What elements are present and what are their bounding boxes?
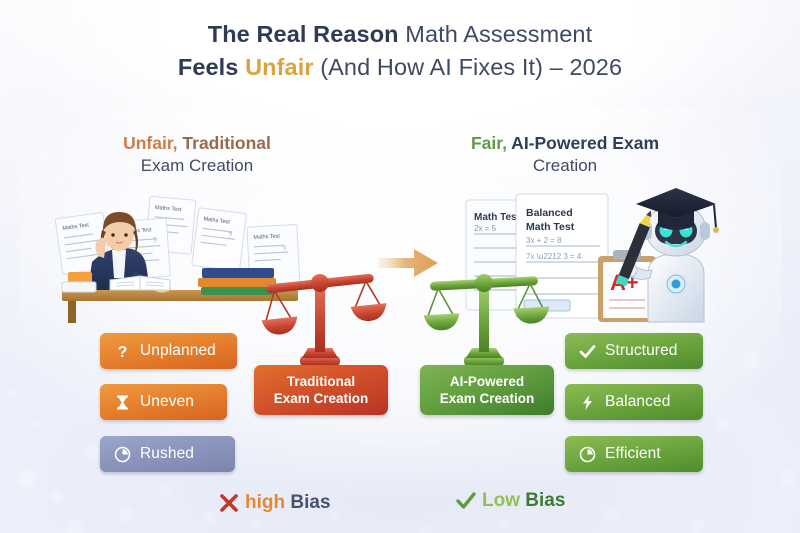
checkmark-icon [579,343,596,360]
left-heading-sub: Exam Creation [42,155,352,178]
lightning-bolt-icon [579,394,596,411]
svg-text:2x = 5: 2x = 5 [474,224,497,233]
pill-balanced[interactable]: Balanced [565,384,703,420]
balanced-scale-green-icon [416,252,552,374]
right-column-heading: Fair, AI-Powered Exam Creation [400,132,730,178]
traditional-exam-creation-label: Traditional Exam Creation [254,365,388,415]
bokeh-dot [250,520,260,530]
title-line1-bold: The Real Reason [208,21,399,47]
low-bias-summary: Low Bias [455,490,565,512]
bokeh-dot [606,508,618,520]
high-bias-summary: high Bias [218,492,331,514]
bokeh-dot [500,518,510,528]
clock-icon [579,446,596,463]
sticky-note-box [62,272,96,292]
cross-icon [218,492,240,514]
left-heading-accent: Unfair, [123,133,177,153]
pill-uneven[interactable]: Uneven [100,384,227,420]
bokeh-dot [66,520,82,533]
bokeh-dot [690,520,704,533]
svg-text:Balanced: Balanced [526,207,573,219]
left-column-heading: Unfair, Traditional Exam Creation [42,132,352,178]
bokeh-dot [8,388,18,398]
title-line-1: The Real Reason Math Assessment [0,18,800,51]
pill-efficient-label: Efficient [605,445,661,463]
pill-balanced-label: Balanced [605,393,670,411]
traditional-label-line2: Exam Creation [254,390,388,407]
title-accent-unfair: Unfair [245,54,314,80]
title-line1-rest: Math Assessment [399,21,593,47]
svg-text:Math Test: Math Test [474,212,521,223]
pill-rushed-label: Rushed [140,445,194,463]
bokeh-dot [736,86,746,96]
ai-powered-exam-creation-label: AI-Powered Exam Creation [420,365,554,415]
right-heading-main: AI-Powered Exam [507,133,659,153]
ai-label-line2: Exam Creation [420,390,554,407]
pill-structured[interactable]: Structured [565,333,703,369]
bokeh-dot [330,512,338,520]
bokeh-dot [780,470,796,486]
svg-text:Math Test: Math Test [526,221,575,233]
left-heading-main: Traditional [178,133,271,153]
hourglass-icon [114,394,131,411]
checkmark-icon [455,490,477,512]
low-bias-word: Low [482,490,520,511]
title-line-2: Feels Unfair (And How AI Fixes It) – 202… [0,51,800,84]
pill-rushed[interactable]: Rushed [100,436,235,472]
question-mark-icon: ? [114,343,131,360]
svg-text:?: ? [118,344,128,360]
right-heading-accent: Fair, [471,133,507,153]
svg-text:3x + 2 = 8: 3x + 2 = 8 [526,236,562,245]
low-bias-suffix: Bias [520,490,565,511]
high-bias-suffix: Bias [285,492,330,513]
unbalanced-scale-red-icon [252,252,388,374]
pill-uneven-label: Uneven [140,393,194,411]
pill-structured-label: Structured [605,342,678,360]
pill-efficient[interactable]: Efficient [565,436,703,472]
bokeh-dot [204,512,216,524]
traditional-label-line1: Traditional [254,373,388,390]
bokeh-dot [420,524,432,533]
bokeh-dot [120,508,134,522]
title-line2-pre: Feels [178,54,245,80]
title-line2-post: (And How AI Fixes It) – 2026 [314,54,623,80]
ai-label-line1: AI-Powered [420,373,554,390]
pill-unplanned[interactable]: ? Unplanned [100,333,237,369]
page-title: The Real Reason Math Assessment Feels Un… [0,18,800,85]
right-heading-sub: Creation [400,155,730,178]
high-bias-word: high [245,492,285,513]
pill-unplanned-label: Unplanned [140,342,216,360]
clock-icon [114,446,131,463]
